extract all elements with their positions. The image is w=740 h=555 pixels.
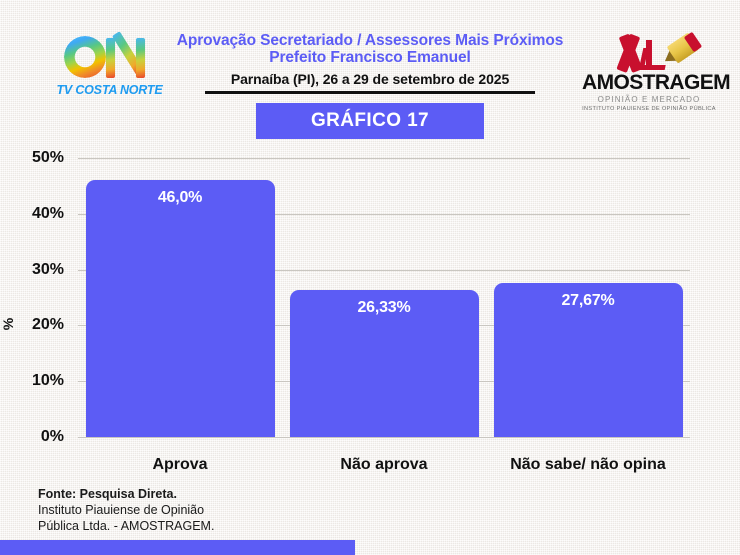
y-axis-tick-labels: 0%10%20%30%40%50% — [0, 158, 70, 437]
chart-number-badge: GRÁFICO 17 — [256, 103, 484, 139]
bar[interactable]: 26,33% — [290, 290, 479, 437]
cn-monogram-icon — [60, 34, 160, 80]
y-axis-tick-label: 50% — [32, 149, 64, 167]
y-axis-tick-label: 20% — [32, 316, 64, 334]
title-block: Aprovação Secretariado / Assessores Mais… — [150, 32, 590, 94]
bar-value-label: 46,0% — [86, 189, 275, 207]
source-line-3: Pública Ltda. - AMOSTRAGEM. — [38, 518, 438, 534]
page-title-line1: Aprovação Secretariado / Assessores Mais… — [177, 32, 564, 49]
header: TV COSTA NORTE Aprovação Secretariado / … — [0, 0, 740, 148]
title-divider — [205, 91, 535, 94]
bar-value-label: 27,67% — [494, 292, 683, 310]
y-axis-tick-label: 0% — [41, 428, 64, 446]
page-title: Aprovação Secretariado / Assessores Mais… — [150, 32, 590, 66]
page-title-line2: Prefeito Francisco Emanuel — [150, 49, 590, 66]
bar-value-label: 26,33% — [290, 299, 479, 317]
x-axis-category-label: Aprova — [78, 456, 282, 474]
y-axis-tick-label: 10% — [32, 372, 64, 390]
gridline — [78, 158, 690, 159]
gridline — [78, 437, 690, 438]
amostragem-legal: INSTITUTO PIAUIENSE DE OPINIÃO PÚBLICA — [582, 106, 716, 112]
chart: % 0%10%20%30%40%50% 46,0%Aprova26,33%Não… — [0, 148, 740, 478]
plot-area: 46,0%Aprova26,33%Não aprova27,67%Não sab… — [78, 158, 690, 437]
x-axis-category-label: Não sabe/ não opina — [486, 456, 690, 474]
bar[interactable]: 27,67% — [494, 283, 683, 437]
amostragem-tagline: OPINIÃO E MERCADO — [582, 95, 716, 104]
source-note: Fonte: Pesquisa Direta. Instituto Piauie… — [38, 486, 438, 534]
amostragem-name: AMOSTRAGEM — [582, 72, 716, 94]
amostragem-logo: AMOSTRAGEM OPINIÃO E MERCADO INSTITUTO P… — [582, 32, 716, 112]
amostragem-pencil-icon — [594, 32, 704, 72]
x-axis-category-label: Não aprova — [282, 456, 486, 474]
page-subtitle: Parnaíba (PI), 26 a 29 de setembro de 20… — [150, 71, 590, 87]
y-axis-tick-label: 40% — [32, 205, 64, 223]
chart-page: TV COSTA NORTE Aprovação Secretariado / … — [0, 0, 740, 555]
source-line-2: Instituto Piauiense de Opinião — [38, 502, 438, 518]
bottom-accent-strip — [0, 540, 355, 555]
bar[interactable]: 46,0% — [86, 180, 275, 437]
y-axis-tick-label: 30% — [32, 261, 64, 279]
source-label: Fonte: Pesquisa Direta. — [38, 486, 438, 502]
